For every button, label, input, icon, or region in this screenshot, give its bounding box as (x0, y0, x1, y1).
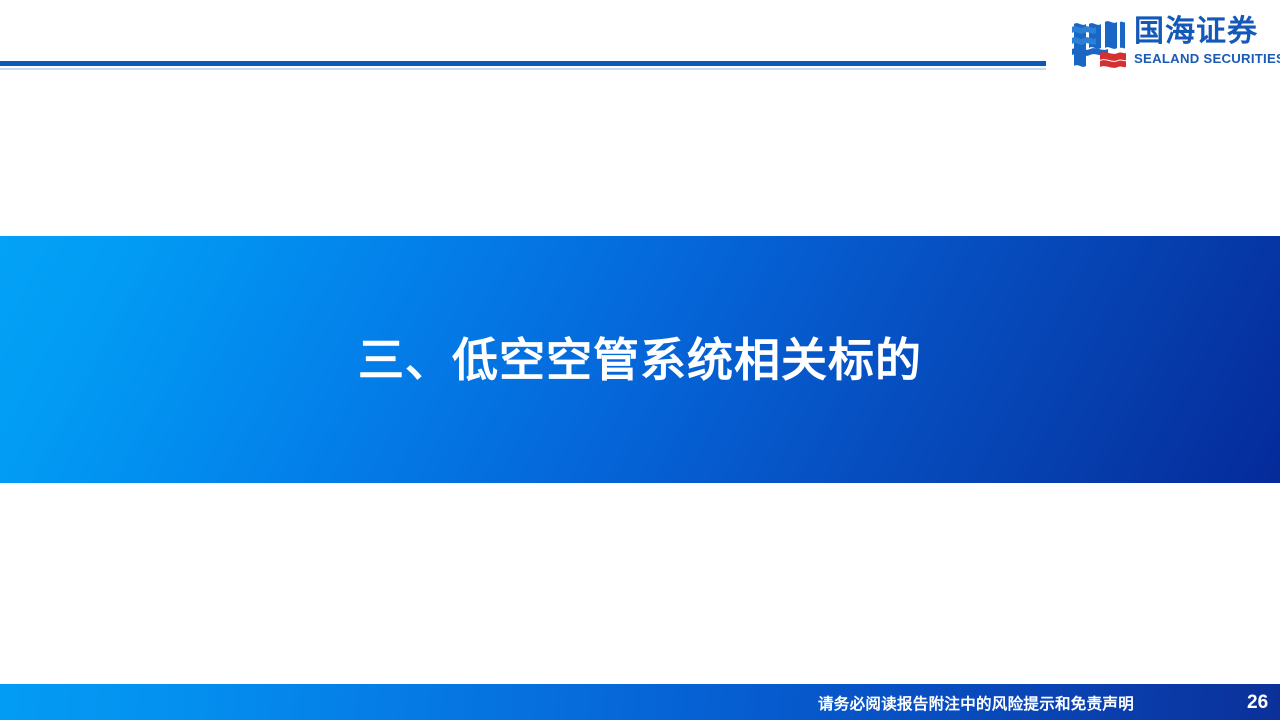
page-number: 26 (1247, 692, 1268, 714)
slide-canvas: 国海证券 SEALAND SECURITIES 三、低空空管系统相关标的 请务必… (0, 0, 1280, 720)
company-logo: 国海证券 SEALAND SECURITIES (1072, 14, 1268, 76)
logo-name-chinese: 国海证券 (1134, 16, 1258, 48)
sealand-logo-mark-icon (1072, 18, 1126, 70)
logo-name-english: SEALAND SECURITIES (1134, 51, 1280, 66)
header-rule-secondary (0, 68, 1046, 70)
header-rule-primary (0, 61, 1046, 66)
section-title: 三、低空空管系统相关标的 (0, 330, 1280, 390)
footer-disclaimer-text: 请务必阅读报告附注中的风险提示和免责声明 (818, 694, 1134, 714)
slide-header: 国海证券 SEALAND SECURITIES (0, 0, 1280, 90)
